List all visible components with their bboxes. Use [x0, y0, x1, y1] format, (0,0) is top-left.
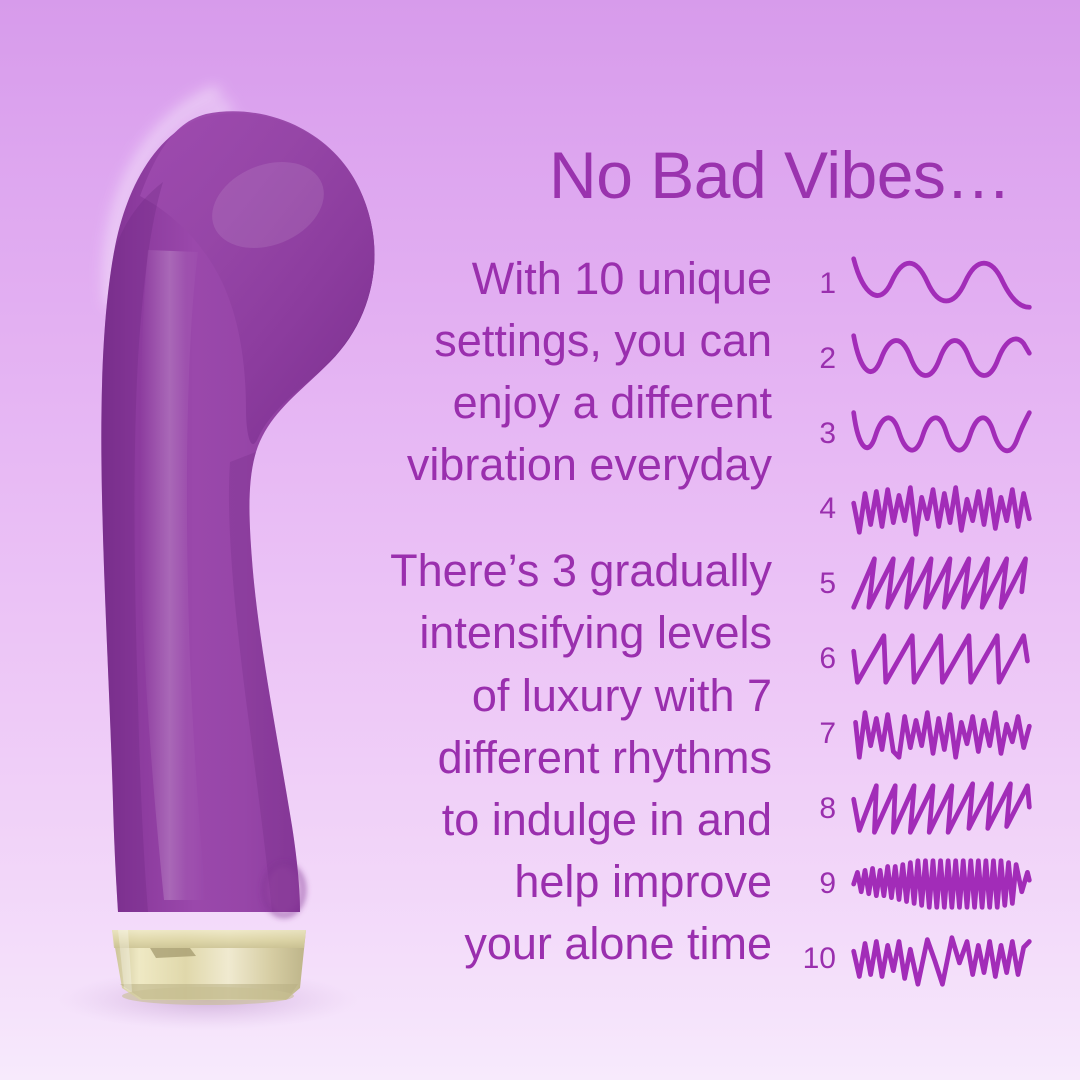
pattern-row[interactable]: 9	[800, 846, 1035, 921]
slanted-sawtooth-icon	[848, 553, 1035, 615]
wide-sawtooth-icon	[848, 628, 1035, 690]
pattern-number: 5	[800, 569, 848, 599]
pattern-number: 4	[800, 494, 848, 524]
power-button	[264, 864, 304, 916]
pattern-number: 3	[800, 419, 848, 449]
copy-line: settings, you can	[360, 310, 772, 372]
pattern-row[interactable]: 10	[800, 921, 1035, 996]
pattern-row[interactable]: 5	[800, 546, 1035, 621]
pattern-row[interactable]: 3	[800, 396, 1035, 471]
promo-graphic: No Bad Vibes… With 10 unique settings, y…	[0, 0, 1080, 1080]
copy-line: enjoy a different	[360, 372, 772, 434]
pattern-number: 8	[800, 794, 848, 824]
copy-line: help improve	[360, 851, 772, 913]
pattern-number: 6	[800, 644, 848, 674]
slow-smooth-sine-icon	[848, 253, 1035, 315]
copy-line: With 10 unique	[360, 248, 772, 310]
pattern-row[interactable]: 2	[800, 321, 1035, 396]
product-base	[112, 930, 306, 1005]
pattern-row[interactable]: 8	[800, 771, 1035, 846]
copy-line: different rhythms	[360, 727, 772, 789]
faster-sine-icon	[848, 403, 1035, 465]
mixed-amplitude-deep-dip-icon	[848, 928, 1035, 990]
pattern-number: 2	[800, 344, 848, 374]
pattern-number: 10	[800, 944, 848, 974]
vibration-pattern-list: 12345678910	[800, 246, 1035, 996]
amplitude-ramp-dense-icon	[848, 853, 1035, 915]
pattern-row[interactable]: 4	[800, 471, 1035, 546]
copy-line: intensifying levels	[360, 602, 772, 664]
dense-irregular-zigzag-icon	[848, 478, 1035, 540]
copy-line: your alone time	[360, 913, 772, 975]
copy-line: There’s 3 gradually	[360, 540, 772, 602]
product-body	[101, 111, 374, 912]
settings-paragraph: With 10 unique settings, you can enjoy a…	[360, 248, 772, 496]
copy-line: vibration everyday	[360, 434, 772, 496]
marketing-copy: With 10 unique settings, you can enjoy a…	[360, 248, 772, 975]
levels-paragraph: There’s 3 gradually intensifying levels …	[360, 540, 772, 975]
growing-slanted-wave-icon	[848, 778, 1035, 840]
irregular-mixed-dense-icon	[848, 703, 1035, 765]
medium-sine-icon	[848, 328, 1035, 390]
copy-line: to indulge in and	[360, 789, 772, 851]
pattern-row[interactable]: 1	[800, 246, 1035, 321]
pattern-row[interactable]: 7	[800, 696, 1035, 771]
pattern-row[interactable]: 6	[800, 621, 1035, 696]
pattern-number: 1	[800, 269, 848, 299]
pattern-number: 9	[800, 869, 848, 899]
pattern-number: 7	[800, 719, 848, 749]
copy-line: of luxury with 7	[360, 665, 772, 727]
page-title: No Bad Vibes…	[520, 142, 1040, 208]
